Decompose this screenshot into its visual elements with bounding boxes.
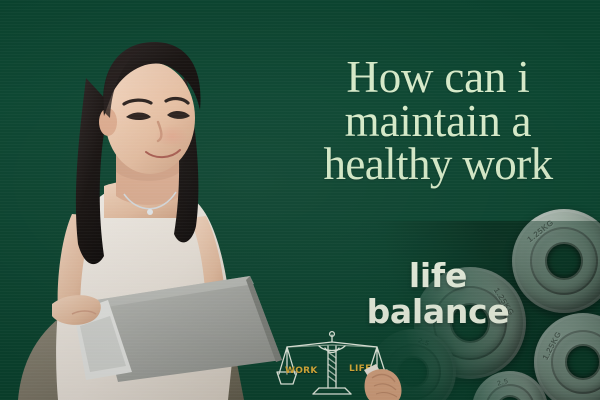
vignette-overlay <box>0 0 600 400</box>
work-life-balance-banner: 1.25KG 1.25KG 1.25KG 2.5 2.5 <box>0 0 600 400</box>
